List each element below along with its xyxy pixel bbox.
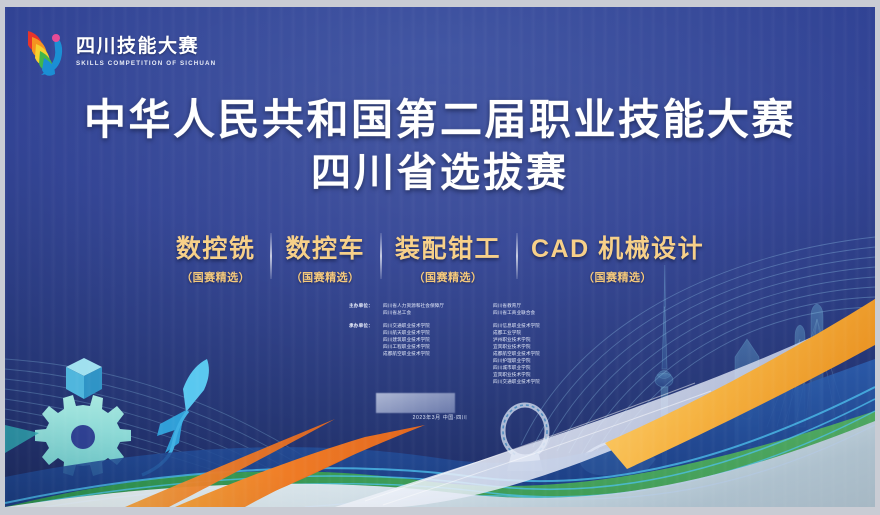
event-item-3: CAD 机械设计 （国赛精选） (516, 229, 719, 285)
event-name: CAD 机械设计 (531, 229, 704, 265)
host-units-col-left: 四川省人力资源和社会保障厅 四川省总工会 (383, 303, 479, 317)
logo-title-cn: 四川技能大赛 (76, 37, 216, 57)
host-unit: 四川省教育厅 (493, 303, 589, 310)
sichuan-skills-emblem-icon (21, 25, 69, 79)
organizer-unit: 四川交通职业技术学院 (383, 323, 479, 330)
event-subtitle: （国赛精选） (413, 269, 482, 285)
host-units-label: 主办单位： (349, 303, 383, 317)
event-item-0: 数控铣 （国赛精选） (161, 229, 271, 285)
event-item-2: 装配钳工 （国赛精选） (380, 229, 516, 285)
host-unit: 四川省总工会 (383, 310, 479, 317)
organizer-unit: 成都工业学院 (493, 330, 589, 337)
organizer-unit: 四川建筑职业技术学院 (383, 337, 479, 344)
organizer-unit: 宜宾职业技术学院 (493, 372, 589, 379)
poster-backdrop: 四川技能大赛 SKILLS COMPETITION OF SICHUAN 中华人… (0, 0, 880, 515)
light-reflection-panel (376, 393, 455, 413)
event-name: 数控铣 (176, 229, 256, 265)
host-unit: 四川省工商业联合会 (493, 310, 589, 317)
logo-title-en: SKILLS COMPETITION OF SICHUAN (76, 60, 216, 67)
organizer-unit: 宜宾职业技术学院 (493, 344, 589, 351)
organizer-unit: 成都航空职业技术学院 (383, 351, 479, 358)
headline-block: 中华人民共和国第二届职业技能大赛 四川省选拔赛 (5, 95, 875, 196)
event-name: 装配钳工 (395, 229, 501, 265)
backdrop-board: 四川技能大赛 SKILLS COMPETITION OF SICHUAN 中华人… (5, 7, 875, 507)
organizer-units: 承办单位： 四川交通职业技术学院 四川航天职业技术学院 四川建筑职业技术学院 四… (349, 323, 589, 386)
event-list: 数控铣 （国赛精选） 数控车 （国赛精选） 装配钳工 （国赛精选） CAD 机械… (5, 229, 875, 285)
credits-block: 主办单位： 四川省人力资源和社会保障厅 四川省总工会 四川省教育厅 四川省工商业… (349, 303, 589, 392)
organizer-unit: 四川交通职业技术学院 (493, 379, 589, 386)
organizer-unit: 四川信息职业技术学院 (493, 323, 589, 330)
organizer-units-col-left: 四川交通职业技术学院 四川航天职业技术学院 四川建筑职业技术学院 四川工程职业技… (383, 323, 479, 386)
headline-line-2: 四川省选拔赛 (5, 150, 875, 196)
3d-cube-icon (66, 358, 102, 399)
host-unit: 四川省人力资源和社会保障厅 (383, 303, 479, 310)
organizer-unit: 四川城市职业学院 (493, 365, 589, 372)
organizer-unit: 四川工程职业技术学院 (383, 344, 479, 351)
organizer-unit: 成都航空职业技术学院 (493, 351, 589, 358)
organizer-unit: 泸州职业技术学院 (493, 337, 589, 344)
event-subtitle: （国赛精选） (583, 269, 652, 285)
organizer-unit: 四川航天职业技术学院 (383, 330, 479, 337)
headline-line-1: 中华人民共和国第二届职业技能大赛 (5, 95, 875, 145)
event-item-1: 数控车 （国赛精选） (270, 229, 380, 285)
organizer-units-col-right: 四川信息职业技术学院 成都工业学院 泸州职业技术学院 宜宾职业技术学院 成都航空… (493, 323, 589, 386)
organizer-units-label: 承办单位： (349, 323, 383, 386)
host-units-col-right: 四川省教育厅 四川省工商业联合会 (493, 303, 589, 317)
organizer-unit: 四川护理职业学院 (493, 358, 589, 365)
host-units: 主办单位： 四川省人力资源和社会保障厅 四川省总工会 四川省教育厅 四川省工商业… (349, 303, 589, 317)
event-subtitle: （国赛精选） (181, 269, 250, 285)
event-logo: 四川技能大赛 SKILLS COMPETITION OF SICHUAN (21, 21, 201, 83)
teal-arrow-accent (5, 425, 39, 453)
footer-date-location: 2023年3月 中国·四川 (5, 414, 875, 421)
event-name: 数控车 (285, 229, 365, 265)
event-subtitle: （国赛精选） (291, 269, 360, 285)
